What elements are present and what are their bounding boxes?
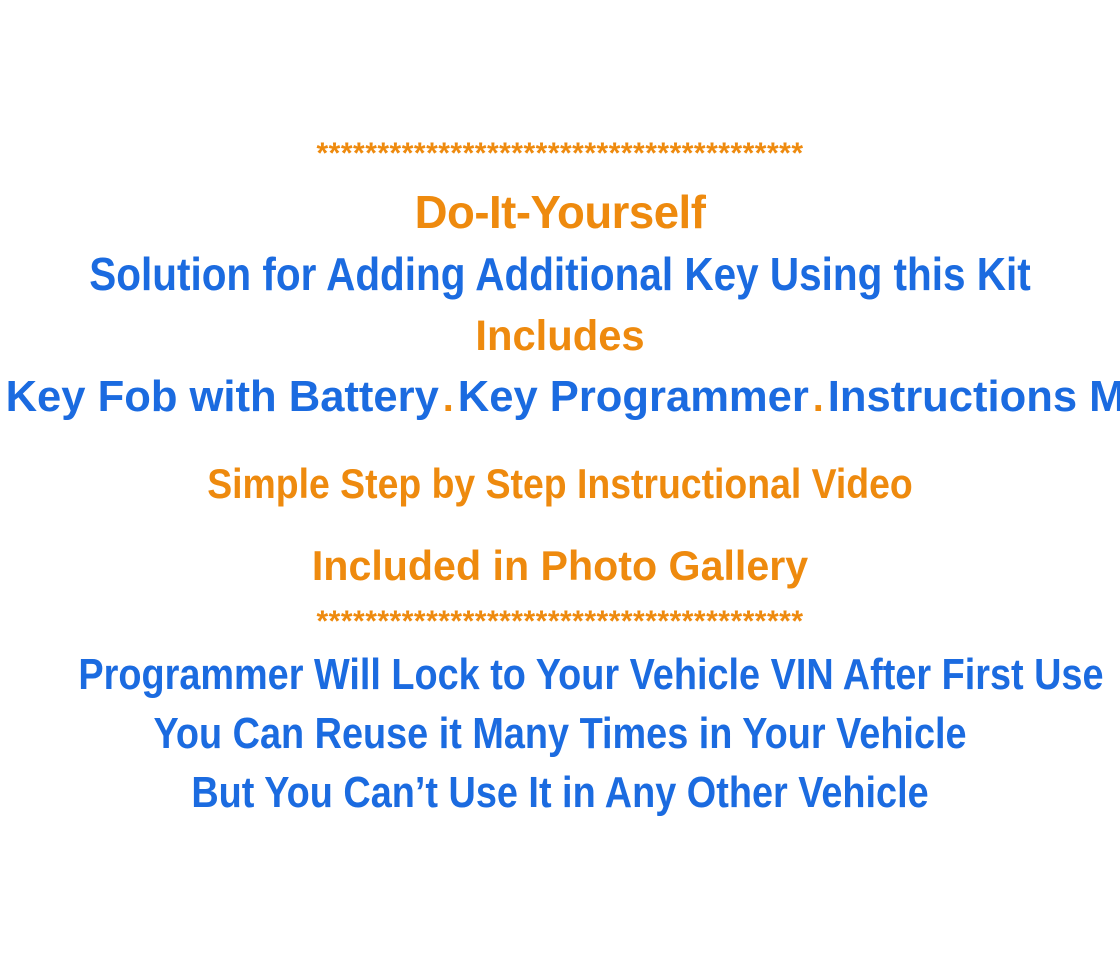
asterisk-divider-top: **************************************** [0, 141, 1120, 171]
promotional-text-block: ****************************************… [0, 0, 1120, 815]
photo-gallery-line: Included in Photo Gallery [11, 545, 1109, 587]
subtitle: Solution for Adding Additional Key Using… [67, 251, 1053, 297]
contents-item-instructions-manual: Instructions Manual [828, 372, 1120, 421]
instructional-video-line: Simple Step by Step Instructional Video [62, 463, 1059, 505]
notice-line-restriction: But You Can’t Use It in Any Other Vehicl… [78, 771, 1041, 815]
notice-line-vin-lock: Programmer Will Lock to Your Vehicle VIN… [78, 653, 1041, 697]
contents-item-key-fob: Key Fob with Battery [6, 372, 439, 421]
contents-item-key-programmer: Key Programmer [458, 372, 809, 421]
asterisk-divider-bottom: **************************************** [0, 609, 1120, 639]
contents-separator-2: . [809, 376, 828, 420]
notice-line-reuse: You Can Reuse it Many Times in Your Vehi… [78, 712, 1041, 756]
includes-label: Includes [17, 315, 1103, 358]
page-title: Do-It-Yourself [6, 189, 1115, 235]
contents-separator-1: . [439, 376, 458, 420]
contents-list: Key Fob with Battery.Key Programmer.Inst… [6, 375, 1115, 419]
